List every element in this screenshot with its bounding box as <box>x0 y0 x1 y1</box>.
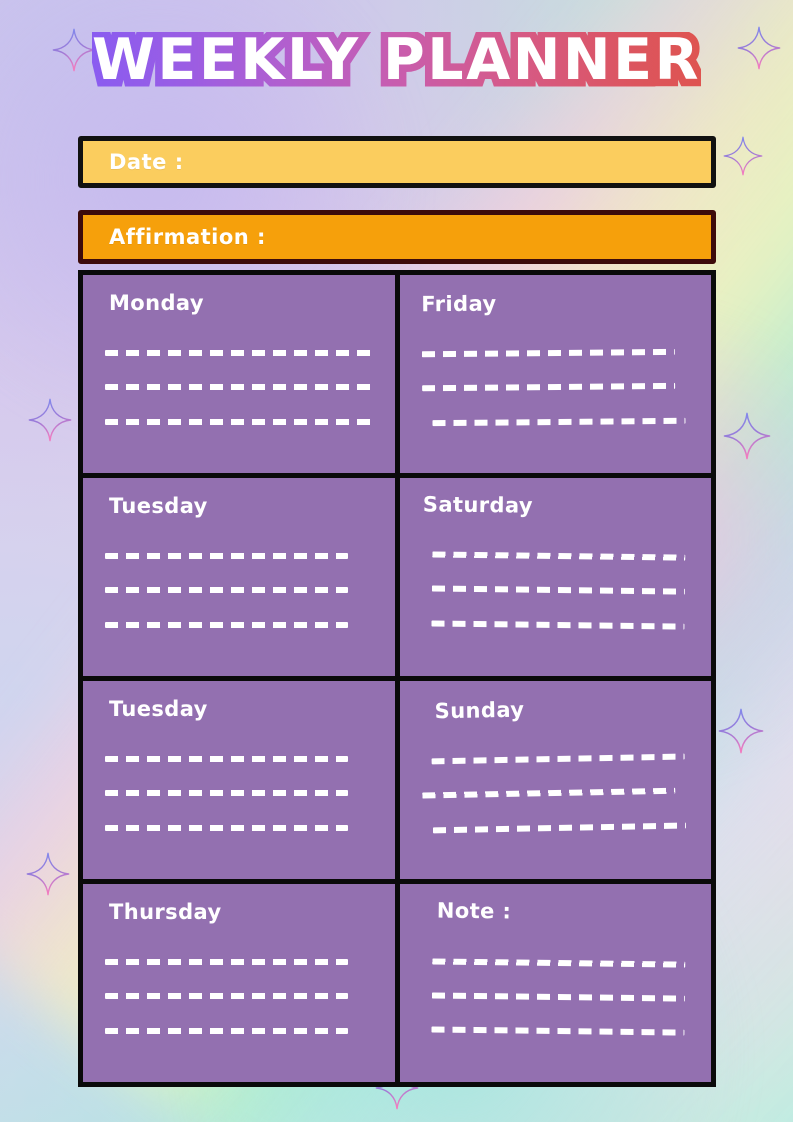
writing-line[interactable] <box>431 585 684 594</box>
writing-line[interactable] <box>432 551 685 560</box>
note-cell[interactable]: Note : <box>400 884 712 1082</box>
writing-line[interactable] <box>431 620 684 629</box>
affirmation-field[interactable]: Affirmation : <box>78 210 716 264</box>
day-label-friday: Friday <box>421 290 691 317</box>
page-title: WEEKLY PLANNER WEEKLY PLANNER <box>0 32 793 114</box>
writing-line[interactable] <box>432 417 685 425</box>
date-field-label: Date : <box>109 150 184 174</box>
writing-line[interactable] <box>105 384 375 390</box>
day-label-sunday: Sunday <box>434 694 690 723</box>
writing-line[interactable] <box>105 622 348 628</box>
writing-line[interactable] <box>432 822 685 833</box>
day-cell-saturday[interactable]: Saturday <box>400 478 712 676</box>
planner-page: WEEKLY PLANNER WEEKLY PLANNER Date : Aff… <box>0 0 793 1122</box>
day-cell-tuesday-repeat[interactable]: Tuesday <box>83 681 395 879</box>
date-field[interactable]: Date : <box>78 136 716 188</box>
writing-line[interactable] <box>105 419 375 425</box>
writing-line[interactable] <box>105 350 375 356</box>
writing-line[interactable] <box>105 959 348 965</box>
writing-lines-sunday[interactable] <box>421 724 693 869</box>
writing-line[interactable] <box>105 825 348 831</box>
day-cell-monday[interactable]: Monday <box>83 275 395 473</box>
writing-line[interactable] <box>105 993 348 999</box>
writing-line[interactable] <box>432 958 685 967</box>
day-cell-sunday[interactable]: Sunday <box>400 681 712 879</box>
affirmation-field-label: Affirmation : <box>109 225 266 249</box>
day-label-thursday: Thursday <box>109 900 375 924</box>
planner-sheet: Date : Affirmation : Monday Friday <box>78 136 716 1087</box>
writing-lines-note[interactable] <box>420 930 691 1071</box>
day-cell-tuesday[interactable]: Tuesday <box>83 478 395 676</box>
day-cell-friday[interactable]: Friday <box>400 275 712 473</box>
writing-line[interactable] <box>422 788 675 799</box>
writing-line[interactable] <box>105 756 348 762</box>
writing-lines-friday[interactable] <box>421 320 692 463</box>
writing-line[interactable] <box>431 753 684 764</box>
writing-lines-monday[interactable] <box>105 321 375 461</box>
page-title-fill: WEEKLY PLANNER <box>0 32 793 89</box>
writing-line[interactable] <box>422 383 675 391</box>
writing-lines-saturday[interactable] <box>420 522 691 665</box>
day-label-tuesday-repeat: Tuesday <box>109 697 375 721</box>
day-grid: Monday Friday <box>78 270 716 1087</box>
note-label: Note : <box>436 899 692 926</box>
day-label-saturday: Saturday <box>422 492 692 519</box>
writing-lines-thursday[interactable] <box>105 930 375 1070</box>
writing-lines-tuesday-repeat[interactable] <box>105 727 375 867</box>
writing-line[interactable] <box>105 553 348 559</box>
writing-line[interactable] <box>431 1026 684 1035</box>
day-label-tuesday: Tuesday <box>109 494 375 518</box>
day-label-monday: Monday <box>109 291 375 315</box>
writing-line[interactable] <box>105 1028 348 1034</box>
day-cell-thursday[interactable]: Thursday <box>83 884 395 1082</box>
writing-line[interactable] <box>105 587 348 593</box>
writing-line[interactable] <box>105 790 348 796</box>
writing-lines-tuesday[interactable] <box>105 524 375 664</box>
writing-line[interactable] <box>421 348 674 356</box>
writing-line[interactable] <box>431 992 684 1001</box>
